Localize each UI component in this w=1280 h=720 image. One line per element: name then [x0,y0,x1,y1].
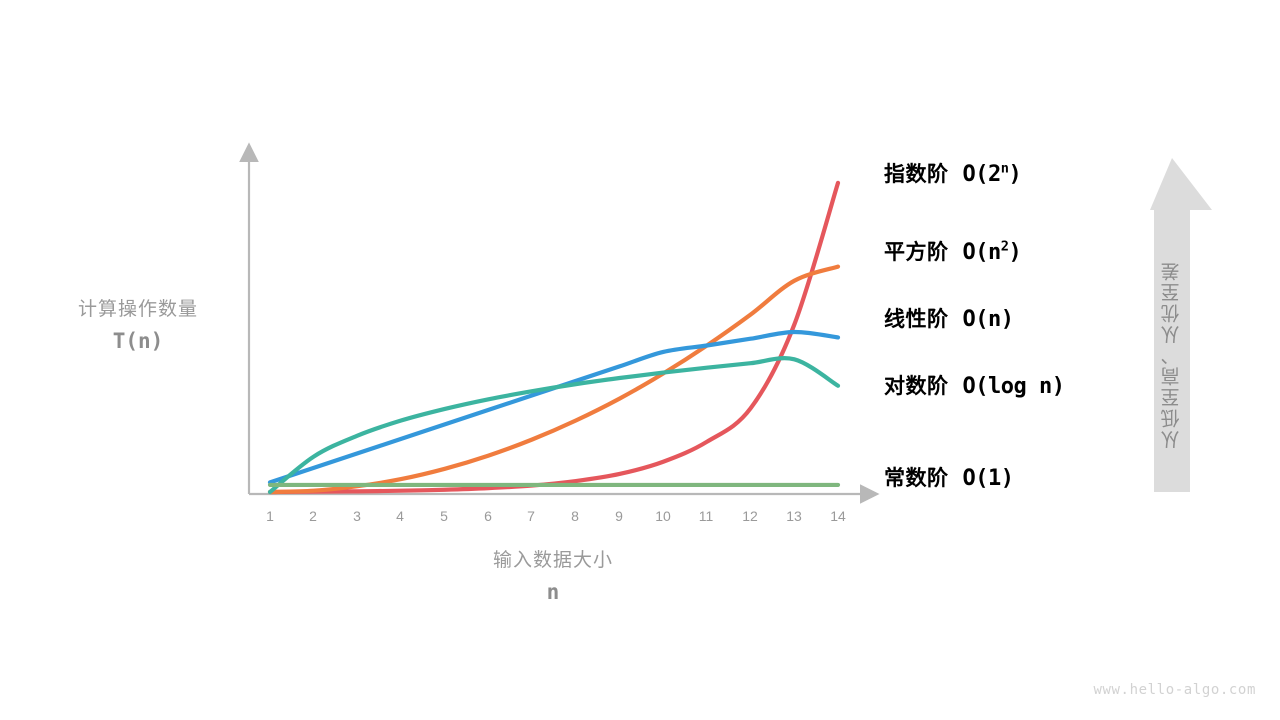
x-axis-title-cn: 输入数据大小 [453,546,653,576]
y-axis-title: 计算操作数量 T(n) [38,295,238,357]
x-tick-label: 11 [699,508,714,524]
legend-notation-exponential: O(2n) [963,162,1022,187]
x-tick-label: 7 [527,508,535,524]
series-group [270,183,838,492]
legend-item-logarithmic: 对数阶O(log n) [884,376,1064,398]
ranking-arrow-label: 从低至高、从优至差 [1132,220,1212,490]
x-tick-label: 13 [786,508,802,524]
series-line [270,358,838,492]
legend-notation-linear: O(n) [963,307,1014,332]
legend-label-exponential: 指数阶 [884,163,949,186]
series-line [270,267,838,492]
legend-item-constant: 常数阶O(1) [884,468,1013,490]
x-tick-label: 10 [655,508,671,524]
ranking-arrow: 从低至高、从优至差 [1132,158,1212,492]
legend-item-exponential: 指数阶O(2n) [884,164,1021,186]
complexity-chart-figure: 1 2 3 4 5 6 7 8 9 10 11 12 13 14 计算操作数量 … [0,0,1280,720]
legend-notation-constant: O(1) [963,466,1014,491]
x-tick-label: 9 [615,508,623,524]
watermark: www.hello-algo.com [1093,682,1256,698]
legend-label-logarithmic: 对数阶 [884,375,949,398]
x-tick-label: 5 [440,508,448,524]
legend-notation-logarithmic: O(log n) [963,374,1065,399]
legend-item-linear: 线性阶O(n) [884,309,1013,331]
chart-canvas: 1 2 3 4 5 6 7 8 9 10 11 12 13 14 [0,0,1280,720]
x-tick-label: 6 [484,508,492,524]
x-tick-label: 1 [266,508,274,524]
legend-item-quadratic: 平方阶O(n2) [884,242,1021,264]
legend-label-quadratic: 平方阶 [884,241,949,264]
x-tick-label: 3 [353,508,361,524]
x-tick-label: 12 [742,508,758,524]
legend-label-linear: 线性阶 [884,308,949,331]
y-axis-title-cn: 计算操作数量 [38,295,238,325]
x-axis-title: 输入数据大小 n [453,546,653,608]
x-tick-label: 8 [571,508,579,524]
y-axis-title-symbol: T(n) [38,325,238,357]
x-tick-labels: 1 2 3 4 5 6 7 8 9 10 11 12 13 14 [266,508,846,524]
legend-notation-quadratic: O(n2) [963,240,1022,265]
x-tick-label: 4 [396,508,404,524]
x-tick-label: 14 [830,508,846,524]
x-tick-label: 2 [309,508,317,524]
x-axis-title-symbol: n [453,576,653,608]
legend-label-constant: 常数阶 [884,467,949,490]
